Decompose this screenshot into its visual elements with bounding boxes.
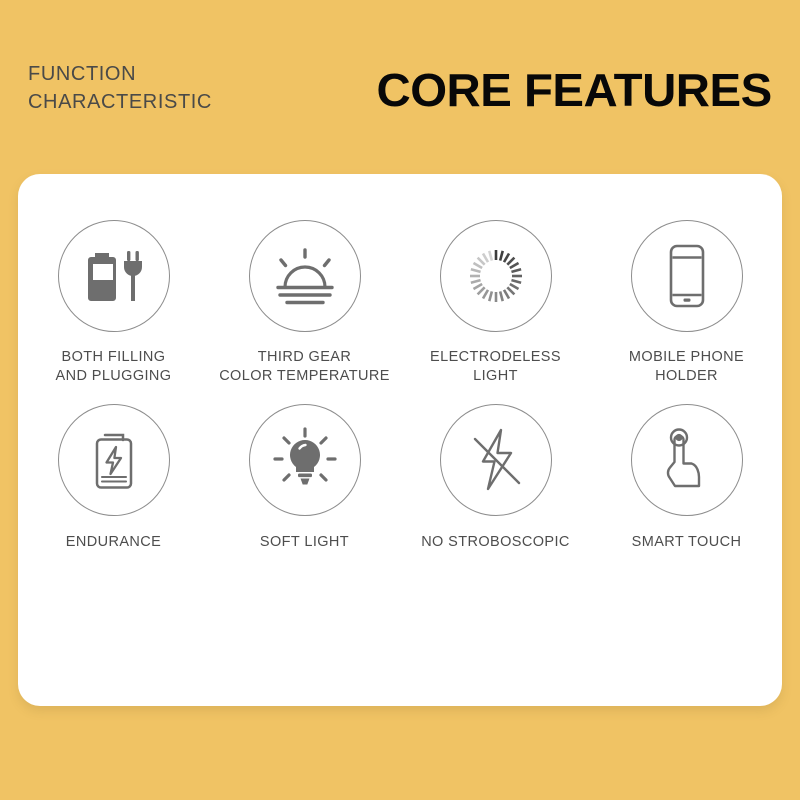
feature-item: THIRD GEAR COLOR TEMPERATURE — [209, 220, 400, 386]
feature-label: THIRD GEAR COLOR TEMPERATURE — [219, 348, 390, 386]
feature-icon-circle — [249, 220, 361, 332]
feature-icon-circle — [631, 404, 743, 516]
feature-item: ELECTRODELESS LIGHT — [400, 220, 591, 386]
radial-light-burst-icon — [463, 243, 529, 309]
feature-icon-circle — [631, 220, 743, 332]
feature-item: ENDURANCE — [18, 404, 209, 552]
feature-item: MOBILE PHONE HOLDER — [591, 220, 782, 386]
battery-plug-icon — [81, 245, 147, 307]
feature-icon-circle-wrap: SOFT LIGHT — [209, 404, 400, 552]
mobile-phone-icon — [663, 243, 711, 309]
light-bulb-icon — [271, 426, 339, 494]
feature-label: ENDURANCE — [66, 533, 161, 552]
feature-label: SOFT LIGHT — [260, 533, 349, 552]
feature-icon-circle — [249, 404, 361, 516]
feature-icon-circle — [58, 220, 170, 332]
features-row-2: ENDURANCE — [18, 404, 782, 552]
features-grid: BOTH FILLING AND PLUGGING — [18, 220, 782, 552]
feature-icon-circle — [440, 220, 552, 332]
page-title: CORE FEATURES — [377, 63, 772, 117]
features-row-1: BOTH FILLING AND PLUGGING — [18, 220, 782, 386]
feature-item: SMART TOUCH — [591, 404, 782, 552]
header-kicker: FUNCTION CHARACTERISTIC — [28, 60, 212, 116]
feature-item: NO STROBOSCOPIC — [400, 404, 591, 552]
feature-item: BOTH FILLING AND PLUGGING — [18, 220, 209, 386]
feature-label: BOTH FILLING AND PLUGGING — [56, 348, 172, 386]
feature-label: SMART TOUCH — [632, 533, 742, 552]
feature-label: MOBILE PHONE HOLDER — [629, 348, 744, 386]
poster-root: FUNCTION CHARACTERISTIC CORE FEATURES — [0, 0, 800, 800]
feature-icon-circle — [58, 404, 170, 516]
no-strobe-bolt-icon — [463, 425, 529, 495]
header: FUNCTION CHARACTERISTIC CORE FEATURES — [0, 0, 800, 175]
feature-label: ELECTRODELESS LIGHT — [430, 348, 561, 386]
battery-bolt-icon — [88, 427, 140, 493]
features-card: BOTH FILLING AND PLUGGING — [18, 174, 782, 706]
feature-label: NO STROBOSCOPIC — [421, 533, 570, 552]
sunrise-color-temperature-icon — [270, 245, 340, 307]
feature-icon-circle — [440, 404, 552, 516]
touch-hand-icon — [657, 426, 717, 494]
